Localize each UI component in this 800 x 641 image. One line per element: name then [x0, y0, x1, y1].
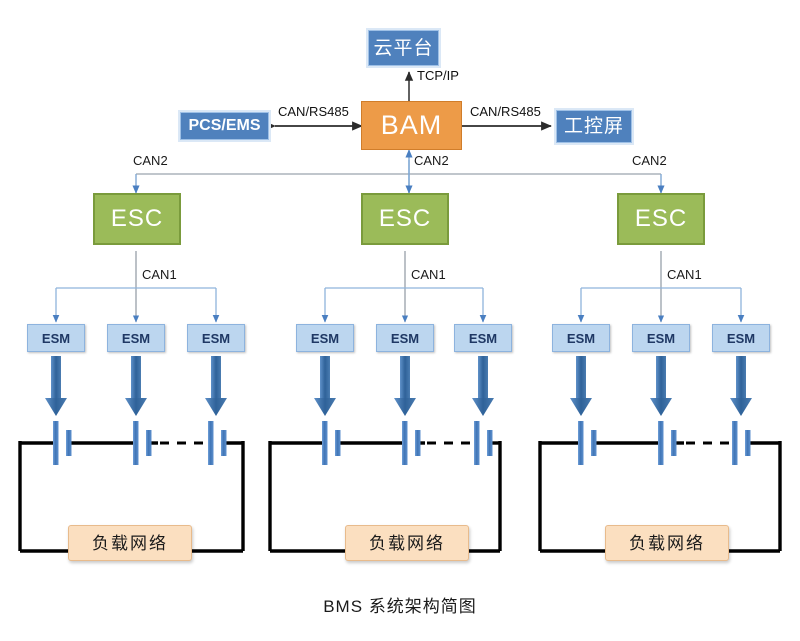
label-can1-right: CAN1: [667, 268, 702, 281]
node-esc-3[interactable]: ESC: [617, 193, 705, 245]
node-esm-1-3-label: ESM: [202, 332, 230, 345]
node-esm-2-1[interactable]: ESM: [296, 324, 354, 352]
node-esm-1-1-label: ESM: [42, 332, 70, 345]
node-load-network-2-label: 负载网络: [369, 535, 445, 552]
node-industrial-hmi[interactable]: 工控屏: [556, 110, 632, 143]
node-esm-1-2-label: ESM: [122, 332, 150, 345]
label-can2-right: CAN2: [632, 154, 667, 167]
label-can-rs485-left: CAN/RS485: [278, 105, 349, 118]
diagram-caption: BMS 系统架构简图: [0, 592, 800, 617]
node-esm-2-1-label: ESM: [311, 332, 339, 345]
node-bam-label: BAM: [381, 112, 443, 139]
node-cloud-platform-label: 云平台: [373, 39, 433, 58]
node-esm-3-2[interactable]: ESM: [632, 324, 690, 352]
node-esm-3-2-label: ESM: [647, 332, 675, 345]
node-load-network-2[interactable]: 负载网络: [345, 525, 469, 561]
node-industrial-hmi-label: 工控屏: [564, 117, 624, 136]
node-esm-2-3[interactable]: ESM: [454, 324, 512, 352]
node-esc-3-label: ESC: [635, 207, 687, 231]
node-esm-3-3[interactable]: ESM: [712, 324, 770, 352]
label-can-rs485-right: CAN/RS485: [470, 105, 541, 118]
node-esm-2-2-label: ESM: [391, 332, 419, 345]
label-can1-mid: CAN1: [411, 268, 446, 281]
node-pcs-ems[interactable]: PCS/EMS: [180, 112, 269, 140]
node-load-network-1-label: 负载网络: [92, 535, 168, 552]
node-esm-1-1[interactable]: ESM: [27, 324, 85, 352]
node-esc-2[interactable]: ESC: [361, 193, 449, 245]
can1-tree-group-3: [581, 251, 741, 322]
node-esc-1[interactable]: ESC: [93, 193, 181, 245]
node-load-network-3[interactable]: 负载网络: [605, 525, 729, 561]
node-esm-3-1[interactable]: ESM: [552, 324, 610, 352]
node-load-network-3-label: 负载网络: [629, 535, 705, 552]
node-esm-1-2[interactable]: ESM: [107, 324, 165, 352]
node-bam[interactable]: BAM: [361, 101, 462, 150]
label-tcpip: TCP/IP: [417, 69, 459, 82]
node-pcs-ems-label: PCS/EMS: [188, 118, 260, 134]
node-esc-2-label: ESC: [379, 207, 431, 231]
label-can1-left: CAN1: [142, 268, 177, 281]
node-esm-2-3-label: ESM: [469, 332, 497, 345]
node-esm-2-2[interactable]: ESM: [376, 324, 434, 352]
node-esc-1-label: ESC: [111, 207, 163, 231]
node-esm-3-1-label: ESM: [567, 332, 595, 345]
can1-tree-group-1: [56, 251, 216, 322]
esm-to-battery-arrows: [45, 356, 752, 416]
node-load-network-1[interactable]: 负载网络: [68, 525, 192, 561]
label-can2-left: CAN2: [133, 154, 168, 167]
node-esm-3-3-label: ESM: [727, 332, 755, 345]
can1-tree-group-2: [325, 251, 483, 322]
label-can2-mid: CAN2: [414, 154, 449, 167]
diagram-canvas: 云平台 BAM PCS/EMS 工控屏 ESC ESC ESC ESM ESM …: [0, 0, 800, 641]
node-esm-1-3[interactable]: ESM: [187, 324, 245, 352]
can2-bus: [136, 150, 661, 193]
node-cloud-platform[interactable]: 云平台: [368, 30, 439, 66]
